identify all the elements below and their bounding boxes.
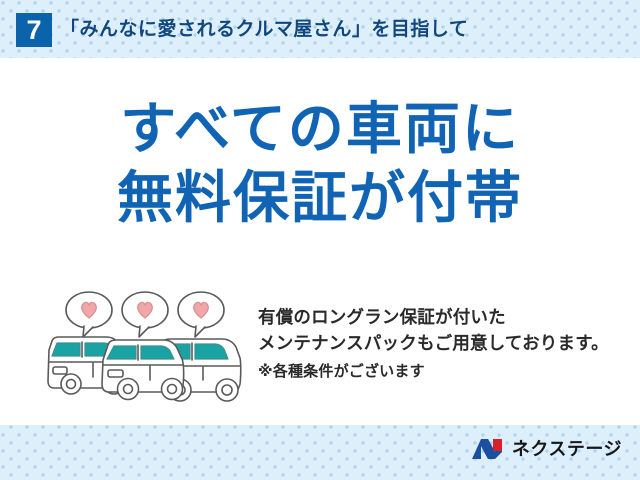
content-card: すべての車両に 無料保証が付帯: [0, 58, 640, 425]
section-number-badge: 7: [16, 13, 52, 47]
header-title: 「みんなに愛されるクルマ屋さん」を目指して: [60, 14, 468, 46]
heart-bubble-1: [66, 292, 112, 337]
copy-note: ※各種条件がございます: [258, 359, 640, 385]
copy-line-2: メンテナンスパックもご用意しております。: [258, 330, 640, 357]
copy-line-1: 有償のロングラン保証が付いた: [258, 304, 640, 330]
brand-name: ネクステージ: [512, 436, 622, 462]
headline-line-1: すべての車両に: [0, 96, 640, 164]
warranty-banner: 7 「みんなに愛されるクルマ屋さん」を目指して すべての車両に 無料保証が付帯: [0, 0, 640, 480]
banner-footer: ネクステージ: [0, 425, 640, 480]
copy-block: 有償のロングラン保証が付いた メンテナンスパックもご用意しております。 ※各種条…: [258, 304, 640, 385]
banner-header: 7 「みんなに愛されるクルマ屋さん」を目指して: [0, 0, 640, 58]
cars-illustration: [40, 288, 250, 408]
n-logo-icon: [471, 437, 505, 461]
info-row: 有償のロングラン保証が付いた メンテナンスパックもご用意しております。 ※各種条…: [0, 290, 640, 410]
brand-logo: ネクステージ: [471, 436, 622, 462]
headline-line-2: 無料保証が付帯: [0, 164, 640, 234]
heart-bubble-3: [178, 292, 224, 337]
wagon-car-icon: [102, 340, 184, 400]
heart-bubble-2: [122, 292, 168, 337]
headline: すべての車両に 無料保証が付帯: [0, 96, 640, 234]
